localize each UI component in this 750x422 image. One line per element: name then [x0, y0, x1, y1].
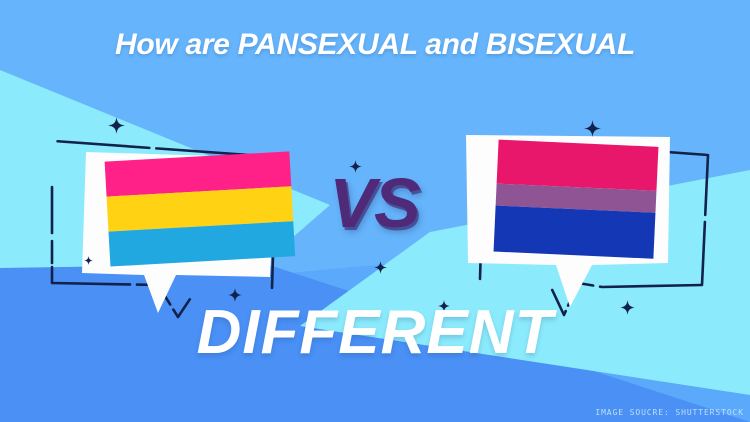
image-source-watermark: IMAGE SOUCRE: SHUTTERSTOCK	[595, 408, 744, 417]
left-bubble-svg	[40, 125, 310, 325]
right-bubble-svg	[452, 115, 732, 325]
sparkle-icon	[84, 252, 93, 261]
sparkle-icon	[374, 261, 387, 274]
left-speech-bubble	[40, 125, 310, 325]
page-title: How are PANSEXUAL and BISEXUAL	[0, 28, 750, 62]
sparkle-icon	[584, 120, 601, 137]
poster-canvas: How are PANSEXUAL and BISEXUAL VS DIFFER…	[0, 0, 750, 422]
bisexual-stripe-blue	[494, 206, 656, 259]
sparkle-icon	[108, 117, 125, 134]
bisexual-stripe-magenta	[497, 140, 659, 191]
headline-different: DIFFERENT	[0, 302, 750, 364]
pansexual-flag	[105, 151, 296, 266]
versus-label: VS	[304, 168, 444, 238]
right-speech-bubble	[452, 115, 732, 325]
bisexual-flag	[494, 140, 659, 259]
